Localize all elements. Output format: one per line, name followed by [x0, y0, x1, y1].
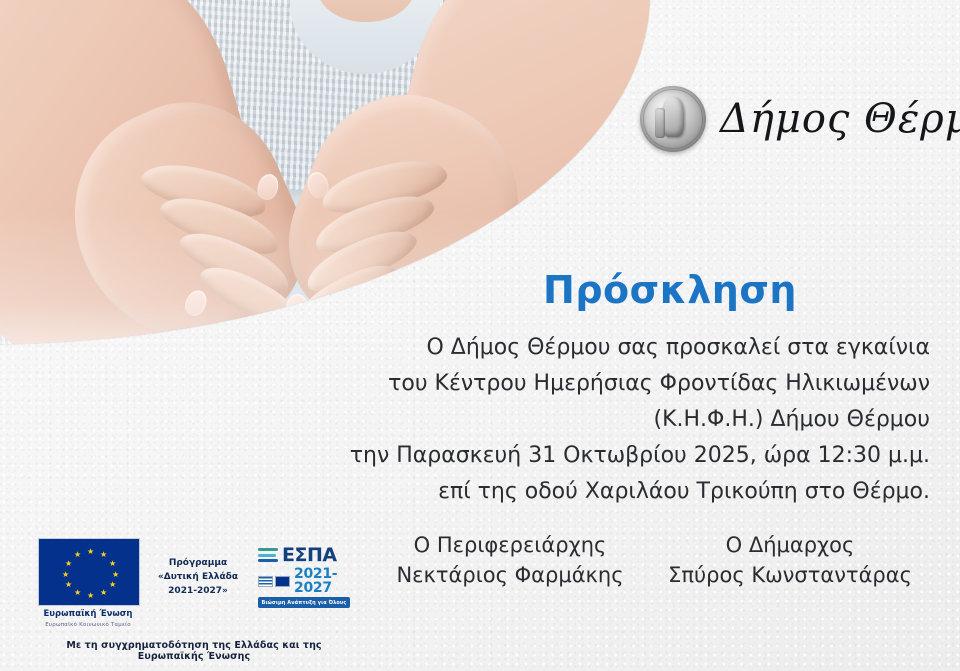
espa-years: 2021-2027 — [294, 567, 350, 595]
eu-caption: Ευρωπαϊκή Ένωση Ευρωπαϊκό Κοινωνικό Ταμε… — [38, 609, 138, 631]
espa-top-row: ΕΣΠΑ — [258, 544, 350, 566]
funding-footer: ★ ★ ★ ★ ★ ★ ★ ★ ★ ★ ★ ★ Ευρωπαϊκή Ένωση … — [38, 538, 350, 662]
municipality-logo: Δήμος Θέρμου — [640, 86, 960, 152]
signature-mayor: Ο Δήμαρχος Σπύρος Κωνσταντάρας — [650, 530, 930, 590]
invitation-body: Ο Δήμος Θέρμου σας προσκαλεί στα εγκαίνι… — [330, 330, 930, 510]
espa-mid-row: 2021-2027 — [258, 567, 350, 595]
signature-regional-governor: Ο Περιφερειάρχης Νεκτάριος Φαρμάκης — [370, 530, 650, 590]
ancient-coin-icon — [640, 86, 706, 152]
body-line: Ο Δήμος Θέρμου σας προσκαλεί στα εγκαίνι… — [330, 330, 930, 366]
espa-wordmark: ΕΣΠΑ — [282, 546, 337, 565]
signature-role: Ο Περιφερειάρχης — [370, 530, 650, 560]
body-line: την Παρασκευή 31 Οκτωβρίου 2025, ώρα 12:… — [330, 438, 930, 474]
mini-flags-icon — [258, 576, 290, 587]
eu-logo: ★ ★ ★ ★ ★ ★ ★ ★ ★ ★ ★ ★ Ευρωπαϊκή Ένωση … — [38, 538, 138, 631]
body-line: του Κέντρου Ημερήσιας Φροντίδας Ηλικιωμέ… — [330, 366, 930, 402]
signature-block: Ο Περιφερειάρχης Νεκτάριος Φαρμάκης Ο Δή… — [370, 530, 930, 590]
signature-name: Σπύρος Κωνσταντάρας — [650, 560, 930, 590]
programme-line-1: Πρόγραμμα — [169, 558, 227, 568]
page-title: Πρόσκληση — [420, 268, 920, 312]
espa-logo: ΕΣΠΑ 2021-2027 Βιώσιμη Ανάπτυξη για Όλου… — [258, 538, 350, 608]
body-line: (Κ.Η.Φ.Η.) Δήμου Θέρμου — [330, 402, 930, 438]
espa-tagline: Βιώσιμη Ανάπτυξη για Όλους — [258, 597, 350, 608]
invitation-poster: Δήμος Θέρμου Πρόσκληση Ο Δήμος Θέρμου σα… — [0, 0, 960, 671]
eu-label: Ευρωπαϊκή Ένωση — [44, 609, 133, 619]
waves-icon — [258, 544, 278, 566]
body-line: επί της οδού Χαριλάου Τρικούπη στο Θέρμο… — [330, 474, 930, 510]
coin-rim — [643, 89, 703, 149]
programme-label: Πρόγραμμα «Δυτική Ελλάδα 2021-2027» — [150, 538, 246, 598]
cofunding-disclaimer: Με τη συγχρηματοδότηση της Ελλάδας και τ… — [38, 640, 350, 662]
eu-sublabel: Ευρωπαϊκό Κοινωνικό Ταμείο — [38, 620, 138, 631]
municipality-name: Δήμος Θέρμου — [720, 96, 960, 142]
signature-role: Ο Δήμαρχος — [650, 530, 930, 560]
eu-flag-icon: ★ ★ ★ ★ ★ ★ ★ ★ ★ ★ ★ ★ — [38, 538, 140, 606]
programme-line-2: «Δυτική Ελλάδα 2021-2027» — [158, 572, 238, 596]
signature-name: Νεκτάριος Φαρμάκης — [370, 560, 650, 590]
funding-logos-row: ★ ★ ★ ★ ★ ★ ★ ★ ★ ★ ★ ★ Ευρωπαϊκή Ένωση … — [38, 538, 350, 631]
